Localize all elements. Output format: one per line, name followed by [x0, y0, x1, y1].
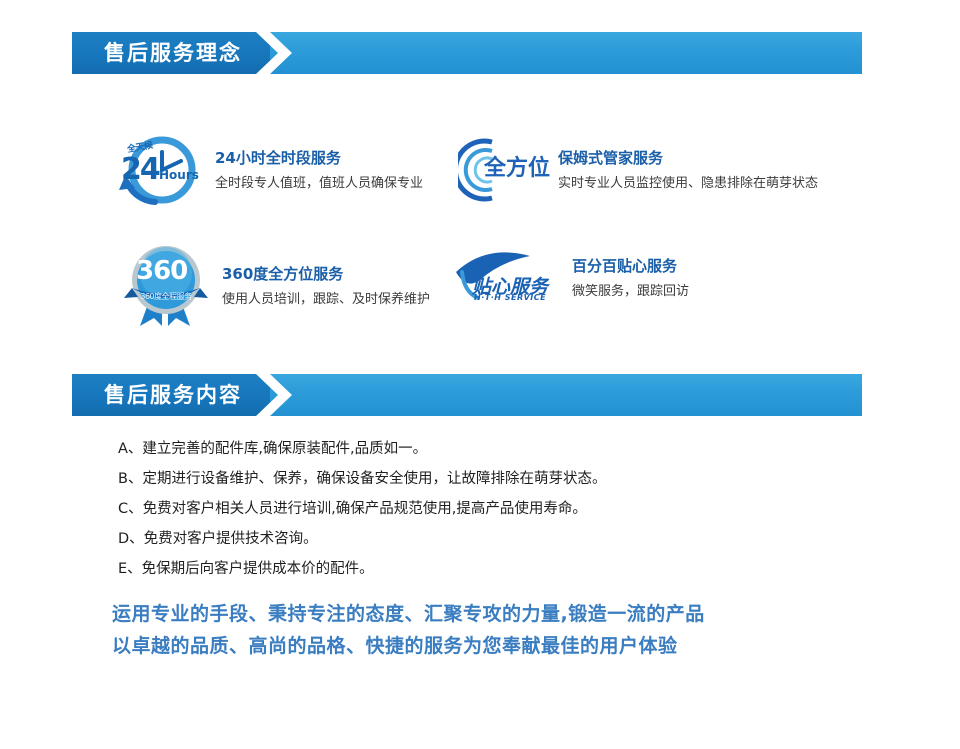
360-badge-icon: 360 360度全程服务 — [118, 242, 214, 328]
list-item-label: B、 — [118, 471, 142, 487]
section-header-content: 售后服务内容 — [72, 374, 862, 416]
feature-desc: 全时段专人值班，值班人员确保专业 — [215, 174, 423, 194]
section-title-content: 售后服务内容 — [104, 374, 242, 416]
icon-text-number: 24 — [121, 152, 159, 187]
clock-24-hours-icon: 全天候 24 Hours — [115, 132, 207, 210]
slogan-line-1: 运用专业的手段、秉持专注的态度、汇聚专攻的力量,锻造一流的产品 — [112, 598, 912, 630]
list-item-label: E、 — [118, 561, 142, 577]
feature-title: 保姆式管家服务 — [558, 148, 818, 168]
feature-text: 360度全方位服务 使用人员培训，跟踪、及时保养维护 — [214, 242, 430, 310]
feature-item: 贴心服务 H·T·H SERVICE 百分百贴心服务 微笑服务，跟踪回访 — [452, 250, 689, 308]
feature-text: 百分百贴心服务 微笑服务，跟踪回访 — [564, 250, 689, 302]
feature-text: 保姆式管家服务 实时专业人员监控使用、隐患排除在萌芽状态 — [550, 132, 818, 194]
list-item-label: A、 — [118, 441, 142, 457]
list-item-text: 免费对客户相关人员进行培训,确保产品规范使用,提高产品使用寿命。 — [143, 501, 587, 517]
icon-text-number: 360 — [136, 256, 187, 286]
feature-title: 百分百贴心服务 — [572, 256, 689, 276]
list-item: C、免费对客户相关人员进行培训,确保产品规范使用,提高产品使用寿命。 — [118, 494, 878, 524]
feature-item: 全方位 保姆式管家服务 实时专业人员监控使用、隐患排除在萌芽状态 — [458, 132, 818, 210]
list-item-text: 免费对客户提供技术咨询。 — [144, 531, 318, 547]
slogan-line-2: 以卓越的品质、高尚的品格、快捷的服务为您奉献最佳的用户体验 — [112, 630, 912, 662]
feature-text: 24小时全时段服务 全时段专人值班，值班人员确保专业 — [207, 132, 423, 194]
feature-desc: 实时专业人员监控使用、隐患排除在萌芽状态 — [558, 174, 818, 194]
section-header-philosophy: 售后服务理念 — [72, 32, 862, 74]
list-item: E、免保期后向客户提供成本价的配件。 — [118, 554, 878, 584]
chevron-right-icon — [256, 32, 296, 74]
list-item-label: C、 — [118, 501, 143, 517]
slogan-block: 运用专业的手段、秉持专注的态度、汇聚专攻的力量,锻造一流的产品 以卓越的品质、高… — [112, 598, 912, 662]
icon-text-label: 全方位 — [484, 150, 550, 182]
attentive-service-logo-icon: 贴心服务 H·T·H SERVICE — [452, 250, 564, 308]
section-title-philosophy: 售后服务理念 — [104, 32, 242, 74]
feature-desc: 微笑服务，跟踪回访 — [572, 282, 689, 302]
list-item-text: 建立完善的配件库,确保原装配件,品质如一。 — [142, 441, 427, 457]
icon-text-unit: Hours — [159, 168, 199, 182]
service-content-list: A、建立完善的配件库,确保原装配件,品质如一。 B、定期进行设备维护、保养，确保… — [118, 434, 878, 584]
list-item-text: 免保期后向客户提供成本价的配件。 — [142, 561, 374, 577]
feature-item: 360 360度全程服务 360度全方位服务 使用人员培训，跟踪、及时保养维护 — [118, 242, 430, 328]
icon-text-english: H·T·H SERVICE — [474, 293, 546, 302]
list-item-text: 定期进行设备维护、保养，确保设备安全使用，让故障排除在萌芽状态。 — [142, 471, 606, 487]
list-item: A、建立完善的配件库,确保原装配件,品质如一。 — [118, 434, 878, 464]
feature-desc: 使用人员培训，跟踪、及时保养维护 — [222, 290, 430, 310]
list-item-label: D、 — [118, 531, 144, 547]
omnidirectional-waves-icon: 全方位 — [458, 132, 550, 210]
chevron-right-icon — [256, 374, 296, 416]
feature-title: 24小时全时段服务 — [215, 148, 423, 168]
list-item: D、免费对客户提供技术咨询。 — [118, 524, 878, 554]
icon-text-ribbon: 360度全程服务 — [132, 291, 200, 302]
list-item: B、定期进行设备维护、保养，确保设备安全使用，让故障排除在萌芽状态。 — [118, 464, 878, 494]
feature-item: 全天候 24 Hours 24小时全时段服务 全时段专人值班，值班人员确保专业 — [115, 132, 423, 210]
feature-title: 360度全方位服务 — [222, 264, 430, 284]
